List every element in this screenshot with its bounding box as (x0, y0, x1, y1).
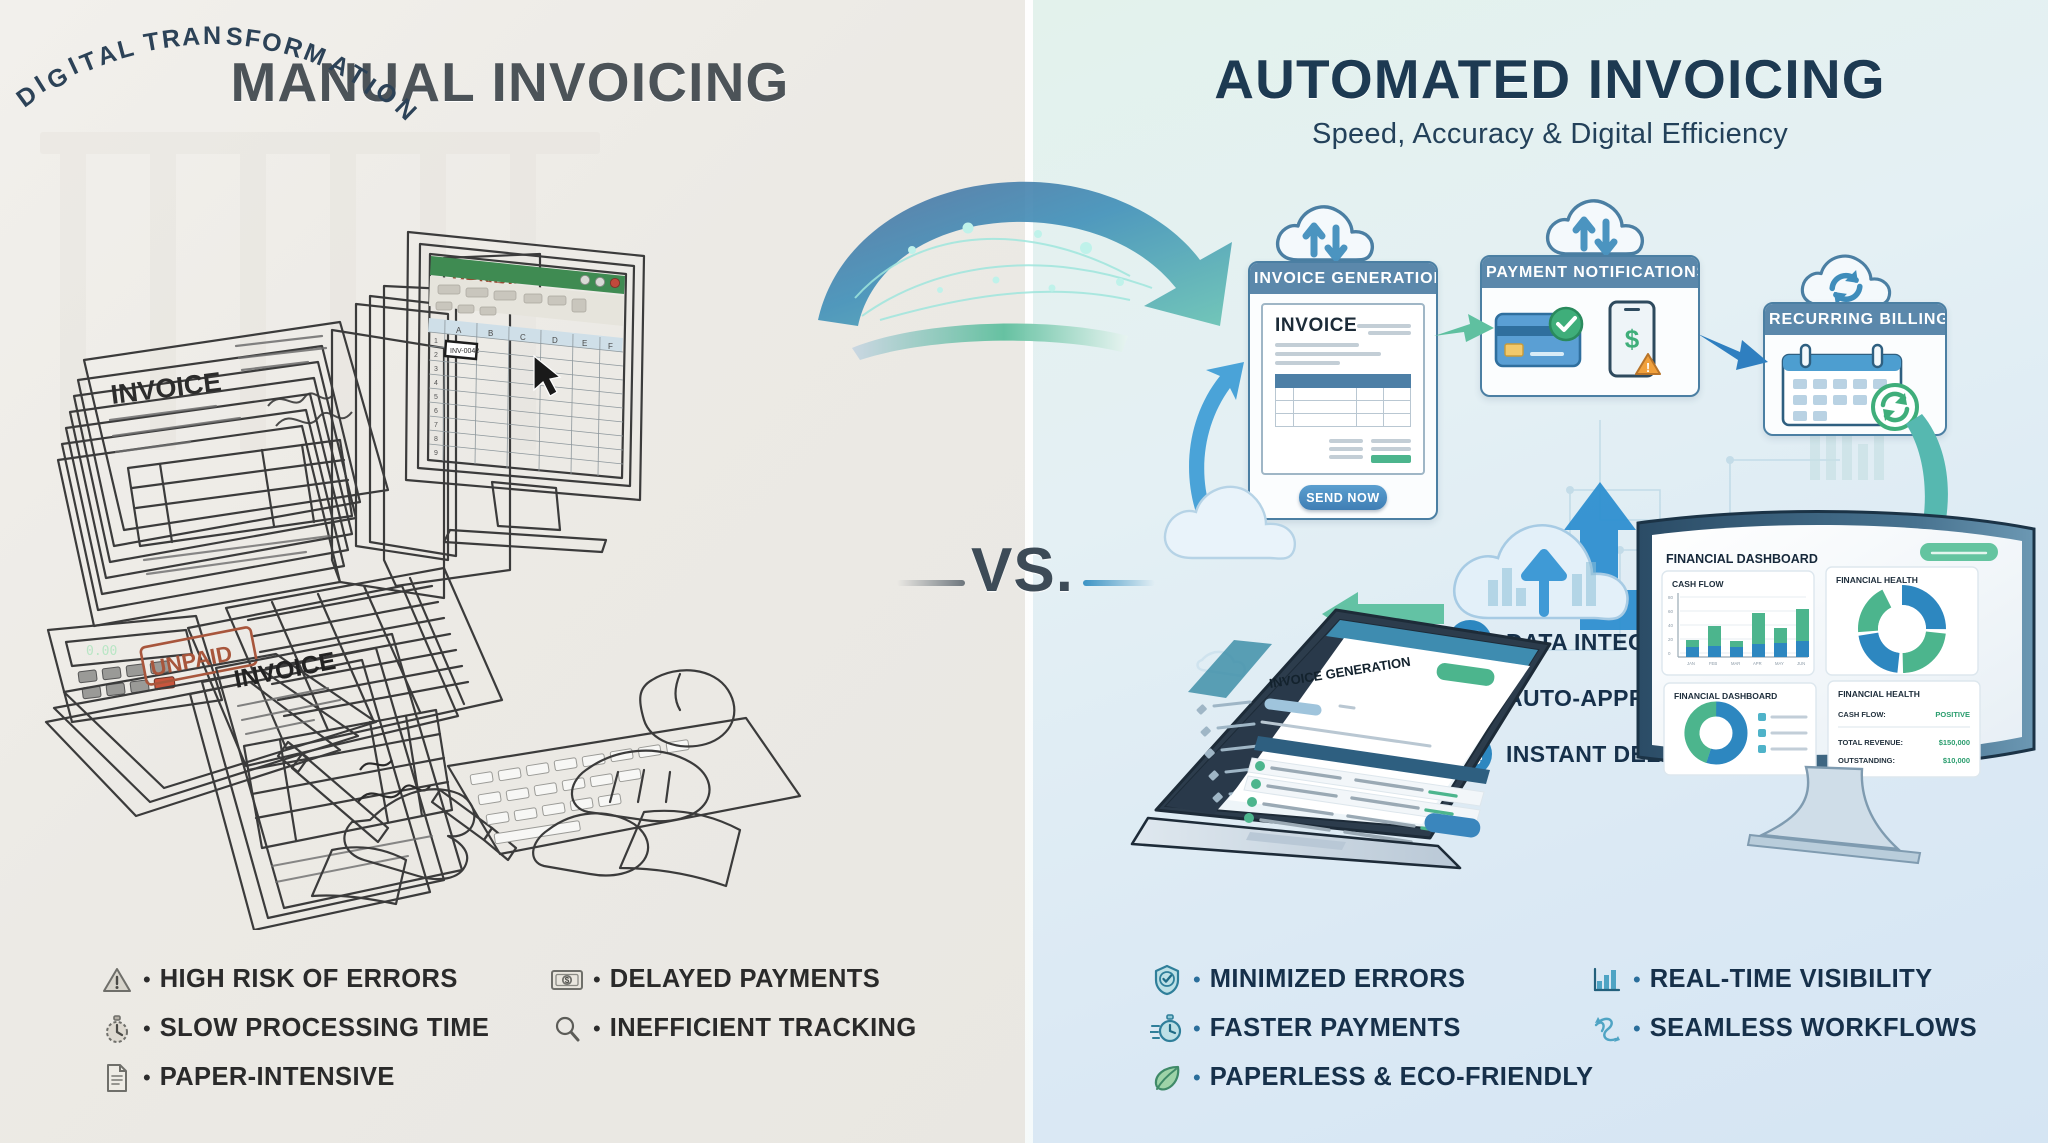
manual-bullet-column-1: • HIGH RISK OF ERRORS • SLOW PROCESSING … (95, 955, 545, 1102)
bar-chart-icon (1585, 960, 1629, 1000)
svg-text:7: 7 (434, 422, 438, 429)
panel-financial-dashboard-donut: FINANCIAL DASHBOARD (1664, 683, 1816, 775)
bullet-dot: • (1633, 969, 1641, 991)
bullet-label: SEAMLESS WORKFLOWS (1650, 1014, 1977, 1043)
svg-text:APR: APR (1753, 661, 1762, 666)
bullet-label: SLOW PROCESSING TIME (160, 1014, 490, 1043)
bullet-high-risk-of-errors: • HIGH RISK OF ERRORS (95, 955, 545, 1004)
bullet-label: FASTER PAYMENTS (1210, 1014, 1461, 1043)
bullet-dot: • (1193, 969, 1201, 991)
bullet-label: INEFFICIENT TRACKING (610, 1014, 917, 1043)
calculator-display: 0.00 (86, 644, 117, 659)
svg-text:!: ! (1646, 360, 1650, 375)
svg-text:MAY: MAY (1775, 661, 1784, 666)
bullet-dot: • (1193, 1018, 1201, 1040)
bullet-label: MINIMIZED ERRORS (1210, 965, 1466, 994)
keyboard (448, 718, 800, 854)
panel-financial-dashboard-title: FINANCIAL DASHBOARD (1674, 691, 1777, 701)
bullet-slow-processing-time: • SLOW PROCESSING TIME (95, 1004, 545, 1053)
invoice-table-row (1276, 388, 1411, 401)
svg-text:8: 8 (434, 436, 438, 443)
banknote-icon: $ (545, 960, 589, 1000)
svg-text:A: A (456, 326, 462, 335)
svg-text:FEB: FEB (1709, 661, 1717, 666)
panel-cash-flow-title: CASH FLOW (1672, 579, 1724, 589)
automated-heading: AUTOMATED INVOICING (1110, 47, 1990, 111)
invoice-line-items-table (1275, 374, 1411, 427)
bullet-delayed-payments: $ • DELAYED PAYMENTS (545, 955, 995, 1004)
svg-text:6: 6 (434, 408, 438, 415)
svg-text:80: 80 (1668, 595, 1674, 600)
svg-text:JAN: JAN (1687, 661, 1695, 666)
check-circle-icon (1550, 308, 1582, 340)
card-payment-notifications-title: PAYMENT NOTIFICATIONS (1482, 257, 1698, 288)
workflow-arrows-icon (1585, 1009, 1629, 1049)
svg-text:9: 9 (434, 450, 438, 457)
stat-label-cash-flow: CASH FLOW: (1838, 710, 1886, 719)
card-payment-notifications[interactable]: PAYMENT NOTIFICATIONS $ ! (1480, 255, 1700, 397)
invoice-table-row (1276, 414, 1411, 427)
bullet-dot: • (143, 1067, 151, 1089)
svg-text:3: 3 (434, 366, 438, 373)
card-invoice-generation-title: INVOICE GENERATION (1250, 263, 1436, 294)
svg-text:JUN: JUN (1797, 661, 1805, 666)
signed-invoice: INVOICE (190, 634, 462, 930)
document-icon (95, 1058, 139, 1098)
stats-title: FINANCIAL HEALTH (1838, 689, 1920, 699)
bullet-dot: • (1633, 1018, 1641, 1040)
panel-financial-health-donut: FINANCIAL HEALTH (1826, 567, 1978, 675)
stat-value-cash-flow: POSITIVE (1935, 710, 1970, 719)
bullet-dot: • (143, 1018, 151, 1040)
automated-bullet-column-2: • REAL-TIME VISIBILITY • SEAMLESS WORKFL (1585, 955, 2025, 1102)
automated-bullet-list: • MINIMIZED ERRORS • FASTER PAYMENTS (1145, 955, 2025, 1102)
credit-card-icon (1492, 302, 1592, 376)
svg-text:D: D (552, 336, 558, 345)
bullet-seamless-workflows: • SEAMLESS WORKFLOWS (1585, 1004, 2025, 1053)
svg-text:E: E (582, 339, 587, 348)
infographic-root: MANUAL INVOICING Traditional, Time-Consu… (0, 0, 2048, 1143)
bullet-label: DELAYED PAYMENTS (610, 965, 880, 994)
card-recurring-billing-title: RECURRING BILLING (1765, 304, 1945, 335)
bullet-label: PAPER-INTENSIVE (160, 1063, 395, 1092)
send-now-button[interactable]: SEND NOW (1299, 485, 1387, 510)
desktop-monitor-dashboard: FINANCIAL DASHBOARD CASH FLOW 806040 200 (1630, 505, 2048, 865)
svg-text:40: 40 (1668, 623, 1674, 628)
svg-text:B: B (488, 329, 493, 338)
magnifier-icon (545, 1009, 589, 1049)
invoice-table-row (1276, 401, 1411, 414)
stopwatch-icon (95, 1009, 139, 1049)
svg-text:4: 4 (434, 380, 438, 387)
versus-rule-right (1083, 580, 1155, 586)
laptop-device: INVOICE GENERATION (1130, 600, 1580, 890)
bullet-faster-payments: • FASTER PAYMENTS (1145, 1004, 1585, 1053)
manual-bullet-column-2: $ • DELAYED PAYMENTS • INEFFICIENT TRACK… (545, 955, 995, 1102)
svg-text:MAR: MAR (1731, 661, 1740, 666)
invoice-doc-title: INVOICE (1275, 315, 1357, 337)
svg-text:2: 2 (434, 352, 438, 359)
mouse-cursor-icon (534, 356, 560, 396)
bullet-dot: • (593, 969, 601, 991)
svg-text:F: F (608, 342, 613, 351)
panel-financial-health-title: FINANCIAL HEALTH (1836, 575, 1918, 585)
flow-arrow-1 (1430, 300, 1500, 360)
stat-value-total-revenue: $150,000 (1939, 738, 1970, 747)
leaf-icon (1145, 1058, 1189, 1098)
stat-label-total-revenue: TOTAL REVENUE: (1838, 738, 1903, 747)
bullet-dot: • (143, 969, 151, 991)
stat-label-outstanding: OUTSTANDING: (1838, 756, 1895, 765)
svg-text:$: $ (1625, 324, 1640, 354)
flow-arrow-2 (1694, 318, 1774, 382)
desktop-monitor: SHEETS (406, 232, 644, 552)
manual-bullet-list: • HIGH RISK OF ERRORS • SLOW PROCESSING … (95, 955, 995, 1102)
bullet-label: REAL-TIME VISIBILITY (1650, 965, 1933, 994)
automated-bullet-column-1: • MINIMIZED ERRORS • FASTER PAYMENTS (1145, 955, 1585, 1102)
invoice-document: INVOICE (1261, 303, 1425, 475)
bullet-real-time-visibility: • REAL-TIME VISIBILITY (1585, 955, 2025, 1004)
invoice-table-header-row (1276, 375, 1411, 388)
fast-clock-icon (1145, 1009, 1189, 1049)
spreadsheet-active-cell-text: INV-0042 (450, 348, 479, 355)
smartphone-icon: $ ! (1602, 298, 1662, 380)
warning-triangle-icon (95, 960, 139, 1000)
bullet-inefficient-tracking: • INEFFICIENT TRACKING (545, 1004, 995, 1053)
svg-text:$: $ (565, 976, 570, 985)
bullet-dot: • (1193, 1067, 1201, 1089)
cloud-decoration-left (1156, 470, 1306, 580)
bullet-dot: • (593, 1018, 601, 1040)
pen-on-desk (432, 790, 516, 860)
bullet-paperless-eco-friendly: • PAPERLESS & ECO-FRIENDLY (1145, 1053, 1585, 1102)
spreadsheet-row-numbers: 123 456 789 (434, 338, 438, 457)
bullet-paper-intensive: • PAPER-INTENSIVE (95, 1053, 545, 1102)
panel-cash-flow: CASH FLOW 806040 200 (1662, 571, 1814, 675)
bullet-label: HIGH RISK OF ERRORS (160, 965, 458, 994)
panel-financial-health-stats: FINANCIAL HEALTH CASH FLOW: POSITIVE TOT… (1828, 681, 1980, 777)
svg-text:60: 60 (1668, 609, 1674, 614)
dashboard-title: FINANCIAL DASHBOARD (1666, 552, 1818, 566)
manual-illustration: INVOICE (40, 230, 1020, 930)
shield-check-icon (1145, 960, 1189, 1000)
manual-heading: MANUAL INVOICING (60, 50, 960, 114)
svg-text:1: 1 (434, 338, 438, 345)
svg-text:5: 5 (434, 394, 438, 401)
bullet-label: PAPERLESS & ECO-FRIENDLY (1210, 1063, 1594, 1092)
svg-text:20: 20 (1668, 637, 1674, 642)
bullet-minimized-errors: • MINIMIZED ERRORS (1145, 955, 1585, 1004)
computer-mouse (640, 670, 734, 746)
svg-text:C: C (520, 333, 526, 342)
stat-value-outstanding: $10,000 (1943, 756, 1970, 765)
